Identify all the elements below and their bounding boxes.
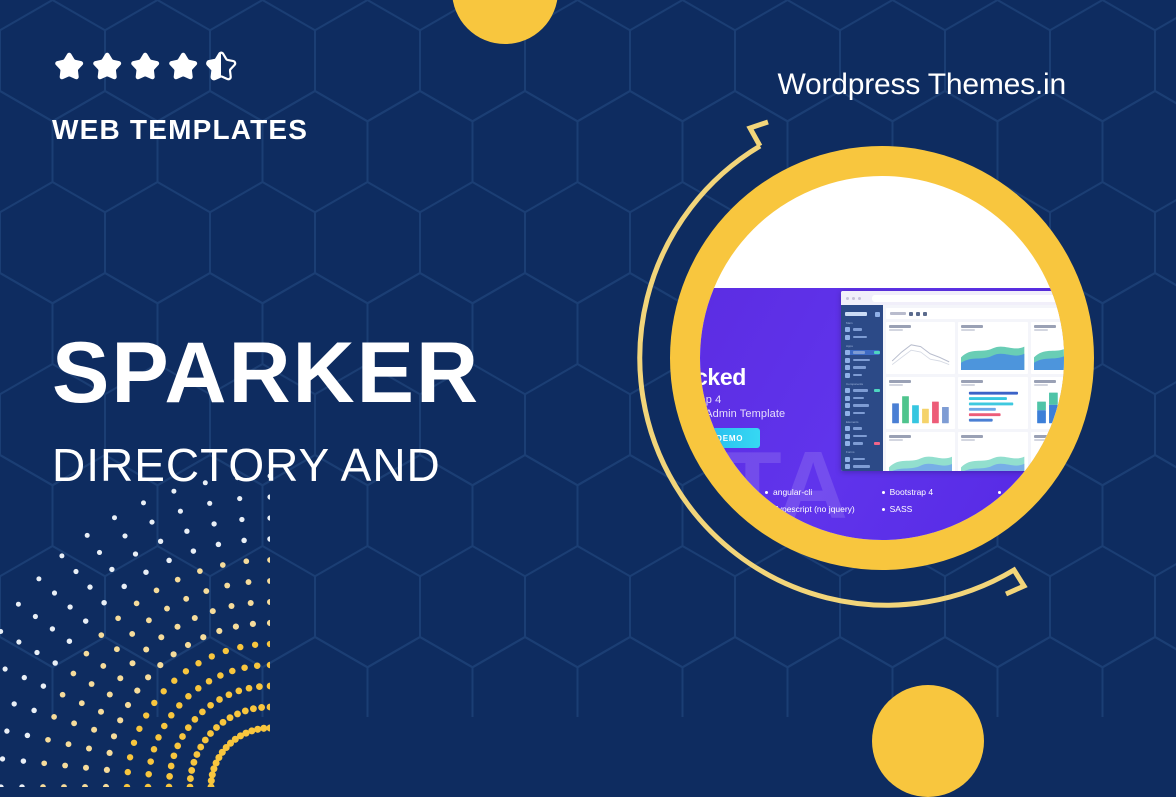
bullet-dot-icon xyxy=(765,491,768,494)
chart-plot xyxy=(889,334,952,370)
decor-dot xyxy=(220,562,226,568)
decor-dot xyxy=(161,688,167,694)
decor-dot xyxy=(207,501,212,506)
sidebar-item-icon xyxy=(845,350,850,355)
decor-dot xyxy=(103,784,109,787)
decor-dot xyxy=(209,771,216,778)
decor-dot xyxy=(125,769,131,775)
decor-dot xyxy=(145,674,151,680)
decor-dot xyxy=(141,500,146,505)
decor-dot xyxy=(211,521,216,526)
sidebar-item[interactable] xyxy=(845,327,880,332)
sidebar-item[interactable] xyxy=(845,335,880,340)
feature-item: Angular 5 and beyond xyxy=(998,484,1064,501)
star-icon xyxy=(90,50,124,83)
decor-dot xyxy=(246,579,252,585)
menu-toggle-icon[interactable] xyxy=(875,312,880,317)
decor-dot xyxy=(4,728,9,733)
decor-dot xyxy=(41,760,47,766)
sidebar-item[interactable] xyxy=(845,457,880,462)
chart-card-subtitle xyxy=(889,384,903,386)
feature-label: Typescript (no jquery) xyxy=(773,504,855,514)
sidebar-item-label xyxy=(853,389,868,392)
decor-dot xyxy=(166,558,172,564)
chart-plot xyxy=(961,334,1024,370)
decorative-circle-bottom xyxy=(872,685,984,797)
toolbar-icon xyxy=(909,312,913,316)
decor-dot xyxy=(197,744,204,751)
chart-card xyxy=(958,432,1027,471)
decor-dot xyxy=(66,741,72,747)
decor-dot xyxy=(260,725,267,732)
circular-showcase: STA stacked Bootstrap 4 Angular Admin Te… xyxy=(632,108,1132,608)
decor-dot xyxy=(267,704,270,711)
decor-dot xyxy=(52,660,58,666)
decor-dot xyxy=(86,745,92,751)
decor-dot xyxy=(197,568,203,574)
chart-plot xyxy=(961,444,1024,471)
sidebar-item-icon xyxy=(845,426,850,431)
decor-dot xyxy=(254,662,261,669)
decor-dot xyxy=(146,617,152,623)
feature-item: Typescript (no jquery) xyxy=(765,501,882,518)
chart-card-subtitle xyxy=(889,329,903,331)
decor-dot xyxy=(117,717,123,723)
decor-dot xyxy=(129,631,135,637)
decor-dot xyxy=(250,621,256,627)
feature-list: angular-cliBootstrap 4Angular 5 and beyo… xyxy=(765,484,1064,518)
decor-dot xyxy=(149,520,154,525)
decor-dot xyxy=(187,784,194,787)
sidebar-item-label xyxy=(853,404,869,407)
decor-dot xyxy=(199,709,206,716)
chart-card-subtitle xyxy=(1034,329,1048,331)
decor-dot xyxy=(101,600,107,606)
sidebar-item-icon xyxy=(845,373,850,378)
decor-dot xyxy=(67,638,73,644)
decor-dot xyxy=(185,724,192,731)
decor-dot xyxy=(3,666,8,671)
decor-dot xyxy=(41,683,47,689)
sidebar-item-label xyxy=(853,374,862,377)
decor-dot xyxy=(267,578,270,584)
decor-dot xyxy=(19,784,25,787)
decor-dot xyxy=(100,663,106,669)
rating-stars xyxy=(52,48,572,84)
star-icon xyxy=(128,50,162,83)
decor-dot xyxy=(267,683,270,690)
chart-plot xyxy=(1034,444,1064,471)
decor-dot xyxy=(202,737,209,744)
decor-dot xyxy=(122,533,127,538)
decor-dot xyxy=(73,569,78,574)
sidebar-item-icon xyxy=(845,327,850,332)
decor-dot xyxy=(210,608,216,614)
decor-dot xyxy=(22,675,27,680)
decor-dot xyxy=(248,600,254,606)
toolbar-icon xyxy=(916,312,920,316)
decor-dot xyxy=(171,651,177,657)
decor-dot xyxy=(206,678,213,685)
decor-dot xyxy=(109,567,114,572)
decor-dot xyxy=(143,712,149,718)
decor-dot xyxy=(134,601,140,607)
sidebar-item[interactable] xyxy=(845,403,880,408)
check-demo-button[interactable]: CHECK DEMO xyxy=(700,428,760,448)
feature-item: SASS xyxy=(882,501,999,518)
decor-dot xyxy=(183,668,189,674)
sidebar-item-icon xyxy=(845,411,850,416)
decor-dot xyxy=(237,496,242,501)
decor-dot xyxy=(50,626,55,631)
decor-dot xyxy=(267,494,270,499)
decor-dot xyxy=(36,576,41,581)
decor-dot xyxy=(207,730,214,737)
decor-dot xyxy=(158,539,163,544)
decor-dot xyxy=(174,624,180,630)
decor-dot xyxy=(241,538,247,544)
decor-dot xyxy=(184,529,189,534)
sidebar-item[interactable] xyxy=(845,350,880,355)
decor-dot xyxy=(239,517,244,522)
sidebar-item[interactable] xyxy=(845,396,880,401)
brand-logo-text: Wordpress Themes.in xyxy=(777,68,1066,102)
sidebar-item[interactable] xyxy=(845,373,880,378)
decor-dot xyxy=(235,688,242,695)
sidebar-item[interactable] xyxy=(845,464,880,469)
decor-dot xyxy=(145,784,152,787)
decor-dot xyxy=(0,784,4,787)
sidebar-item-label xyxy=(853,427,862,430)
chart-card-title xyxy=(889,435,911,438)
bullet-dot-icon xyxy=(882,491,885,494)
dashboard-mockup: MainAppsComponentsElementsForms xyxy=(841,291,1064,471)
feature-item: and much more.. xyxy=(998,501,1064,518)
chart-plot xyxy=(1034,389,1064,425)
decor-dot xyxy=(16,639,21,644)
sidebar-item-label xyxy=(853,412,865,415)
decor-dot xyxy=(164,606,170,612)
chart-card xyxy=(1031,377,1064,429)
decor-dot xyxy=(267,557,270,563)
chart-card-subtitle xyxy=(889,439,903,441)
decor-dot xyxy=(207,702,214,709)
chart-card-subtitle xyxy=(961,439,975,441)
decor-dot xyxy=(104,767,110,773)
sidebar-item-label xyxy=(853,351,865,354)
chart-card-subtitle xyxy=(1034,384,1048,386)
decor-dot xyxy=(33,614,38,619)
decor-dot xyxy=(158,634,164,640)
sidebar-item-label xyxy=(853,458,865,461)
browser-dot xyxy=(858,297,861,300)
promo-subtitle-line2: Angular Admin Template xyxy=(700,408,785,420)
sidebar-section-header: Forms xyxy=(846,450,880,454)
decor-dot xyxy=(243,558,249,564)
decor-dot xyxy=(267,536,270,542)
feature-label: and much more.. xyxy=(1006,504,1064,514)
decor-dot xyxy=(187,775,194,782)
feature-label: Bootstrap 4 xyxy=(890,487,933,497)
decor-dot xyxy=(97,550,102,555)
decor-dot xyxy=(151,746,158,753)
decor-dot xyxy=(45,737,51,743)
decor-dot xyxy=(192,716,199,723)
sidebar-badge xyxy=(874,351,880,355)
sidebar-item[interactable] xyxy=(845,388,880,393)
decor-dot xyxy=(216,696,223,703)
sidebar-section-header: Elements xyxy=(846,420,880,424)
decor-dot xyxy=(67,604,72,609)
decor-dot xyxy=(71,671,77,677)
decor-dot xyxy=(112,515,117,520)
sidebar-item-label xyxy=(853,435,867,438)
dashboard-main xyxy=(883,305,1064,471)
decor-dot xyxy=(246,685,253,692)
sidebar-item-icon xyxy=(845,396,850,401)
star-icon xyxy=(204,50,238,83)
page-subtitle: DIRECTORY AND xyxy=(52,442,672,488)
decor-dot xyxy=(133,551,138,556)
decor-dot xyxy=(178,509,183,514)
decor-dot xyxy=(111,733,117,739)
decor-dot xyxy=(266,724,270,731)
decor-dot xyxy=(125,702,131,708)
decor-dot xyxy=(229,668,236,675)
chart-card xyxy=(1031,322,1064,374)
decor-dot xyxy=(85,533,90,538)
decor-dot xyxy=(209,653,215,659)
decor-dot xyxy=(234,710,241,717)
header-block: WEB TEMPLATES xyxy=(52,48,572,146)
decor-dot xyxy=(61,784,67,787)
decor-dot xyxy=(127,754,133,760)
decor-dot xyxy=(0,629,3,634)
promo-subtitle-line1: Bootstrap 4 xyxy=(700,394,721,406)
decor-dot xyxy=(267,641,270,647)
decor-dot xyxy=(151,700,157,706)
sidebar-item-label xyxy=(853,465,870,468)
decor-dot xyxy=(200,634,206,640)
bullet-dot-icon xyxy=(998,491,1001,494)
star-icon xyxy=(166,50,200,83)
chart-card-subtitle xyxy=(961,384,975,386)
decor-dot xyxy=(254,726,261,733)
sidebar-item[interactable] xyxy=(845,426,880,431)
decor-dot xyxy=(71,720,77,726)
decor-dot xyxy=(233,624,239,630)
category-label: WEB TEMPLATES xyxy=(52,114,572,146)
chart-plot xyxy=(1034,334,1064,370)
chart-card xyxy=(886,322,955,374)
decor-dot xyxy=(227,714,234,721)
decor-dot xyxy=(258,704,265,711)
decor-dot xyxy=(223,648,229,654)
chart-card xyxy=(886,377,955,429)
bullet-dot-icon xyxy=(882,508,885,511)
sidebar-item-icon xyxy=(845,403,850,408)
sidebar-section-header: Apps xyxy=(846,344,880,348)
decor-dot xyxy=(237,644,243,650)
decor-dot xyxy=(84,651,90,657)
decor-dot xyxy=(216,628,222,634)
decor-dot xyxy=(171,678,177,684)
chart-card-title xyxy=(1034,325,1056,328)
radial-dot-pattern xyxy=(0,447,270,787)
decor-dot xyxy=(183,596,189,602)
decor-dot xyxy=(31,708,37,714)
browser-bar xyxy=(841,291,1064,305)
decor-dot xyxy=(147,758,154,765)
toolbar-title xyxy=(890,312,906,315)
decor-dot xyxy=(21,758,27,764)
decor-dot xyxy=(252,642,258,648)
decor-dot xyxy=(193,751,200,758)
decor-dot xyxy=(117,675,123,681)
decor-dot xyxy=(62,763,68,769)
sidebar-item-icon xyxy=(845,358,850,363)
decor-dot xyxy=(98,709,104,715)
bullet-dot-icon xyxy=(998,508,1001,511)
feature-label: SASS xyxy=(890,504,913,514)
sidebar-item-label xyxy=(853,328,862,331)
decor-dot xyxy=(203,588,209,594)
feature-item: angular-cli xyxy=(765,484,882,501)
dashboard-toolbar xyxy=(886,308,1064,319)
decor-dot xyxy=(190,759,197,766)
chart-card-title xyxy=(961,325,983,328)
decor-dot xyxy=(121,584,127,590)
decor-dot xyxy=(0,756,5,761)
decor-dot xyxy=(185,693,192,700)
decor-dot xyxy=(228,603,234,609)
decor-dot xyxy=(79,700,85,706)
decor-dot xyxy=(250,705,257,712)
chart-card-title xyxy=(961,380,983,383)
decor-dot xyxy=(191,548,197,554)
bullet-dot-icon xyxy=(765,508,768,511)
decor-dot xyxy=(157,662,163,668)
decor-dot xyxy=(220,719,227,726)
decor-dot xyxy=(91,727,97,733)
decor-dot xyxy=(143,569,149,575)
chart-plot xyxy=(889,444,952,471)
decor-dot xyxy=(174,743,181,750)
browser-dot xyxy=(846,297,849,300)
decor-dot xyxy=(114,646,120,652)
decor-dot xyxy=(89,681,95,687)
sidebar-item-icon xyxy=(845,434,850,439)
feature-item: Bootstrap 4 xyxy=(882,484,999,501)
decor-dot xyxy=(168,763,175,770)
decor-dot xyxy=(176,702,183,709)
chart-card-title xyxy=(889,380,911,383)
chart-card xyxy=(958,322,1027,374)
sidebar-item-label xyxy=(853,336,867,339)
dashboard-brand xyxy=(845,312,880,317)
sidebar-item-icon xyxy=(845,365,850,370)
sidebar-item[interactable] xyxy=(845,441,880,446)
browser-dot xyxy=(852,297,855,300)
decor-dot xyxy=(107,750,113,756)
sidebar-item-icon xyxy=(845,457,850,462)
decor-dot xyxy=(195,685,202,692)
decor-dot xyxy=(136,726,142,732)
sidebar-item[interactable] xyxy=(845,411,880,416)
decor-dot xyxy=(188,767,195,774)
decor-dot xyxy=(208,777,215,784)
dashboard-brand-label xyxy=(845,312,867,316)
decor-dot xyxy=(224,583,230,589)
decor-dot xyxy=(60,692,66,698)
sidebar-badge xyxy=(874,442,880,446)
sidebar-item[interactable] xyxy=(845,365,880,370)
feature-label: angular-cli xyxy=(773,487,812,497)
decor-dot xyxy=(248,727,255,734)
promo-heading: stacked xyxy=(700,364,746,391)
decor-dot xyxy=(256,683,263,690)
decor-dot xyxy=(267,662,270,669)
decor-dot xyxy=(115,615,121,621)
chart-card-title xyxy=(1034,380,1056,383)
decor-dot xyxy=(52,590,57,595)
chart-plot xyxy=(889,389,952,425)
sidebar-section-header: Components xyxy=(846,382,880,386)
decor-dot xyxy=(175,577,181,583)
decor-dot xyxy=(83,618,89,624)
dashboard-body: MainAppsComponentsElementsForms xyxy=(841,305,1064,471)
decor-dot xyxy=(171,752,178,759)
decor-dot xyxy=(161,723,168,730)
decor-dot xyxy=(145,771,152,778)
decor-dot xyxy=(241,664,248,671)
decor-dot xyxy=(267,620,270,626)
decor-dot xyxy=(213,724,220,731)
chart-card-subtitle xyxy=(1034,439,1048,441)
decor-dot xyxy=(226,691,233,698)
decor-dot xyxy=(217,672,224,679)
chart-card xyxy=(1031,432,1064,471)
feature-label: Angular 5 and beyond xyxy=(1006,487,1064,497)
sidebar-item[interactable] xyxy=(845,358,880,363)
sidebar-item-icon xyxy=(845,335,850,340)
chart-card xyxy=(886,432,955,471)
decor-dot xyxy=(143,646,149,652)
decor-dot xyxy=(124,784,130,787)
decor-dot xyxy=(82,784,88,787)
sidebar-item-icon xyxy=(845,441,850,446)
decor-dot xyxy=(34,650,39,655)
decor-dot xyxy=(195,660,201,666)
sidebar-item[interactable] xyxy=(845,434,880,439)
decor-dot xyxy=(16,602,21,607)
decor-dot xyxy=(242,707,249,714)
title-block: SPARKER DIRECTORY AND xyxy=(52,330,672,488)
sidebar-badge xyxy=(874,389,880,393)
decor-dot xyxy=(216,542,222,548)
decor-dot xyxy=(12,701,17,706)
promo-banner: STA stacked Bootstrap 4 Angular Admin Te… xyxy=(700,288,1064,540)
decor-dot xyxy=(267,515,270,520)
showcase-disc: STA stacked Bootstrap 4 Angular Admin Te… xyxy=(700,176,1064,540)
decor-dot xyxy=(179,733,186,740)
decor-dot xyxy=(129,660,135,666)
toolbar-icon xyxy=(923,312,927,316)
sidebar-section-header: Main xyxy=(846,321,880,325)
decor-dot xyxy=(155,734,162,741)
decor-dot xyxy=(166,773,173,780)
decor-dot xyxy=(87,584,92,589)
